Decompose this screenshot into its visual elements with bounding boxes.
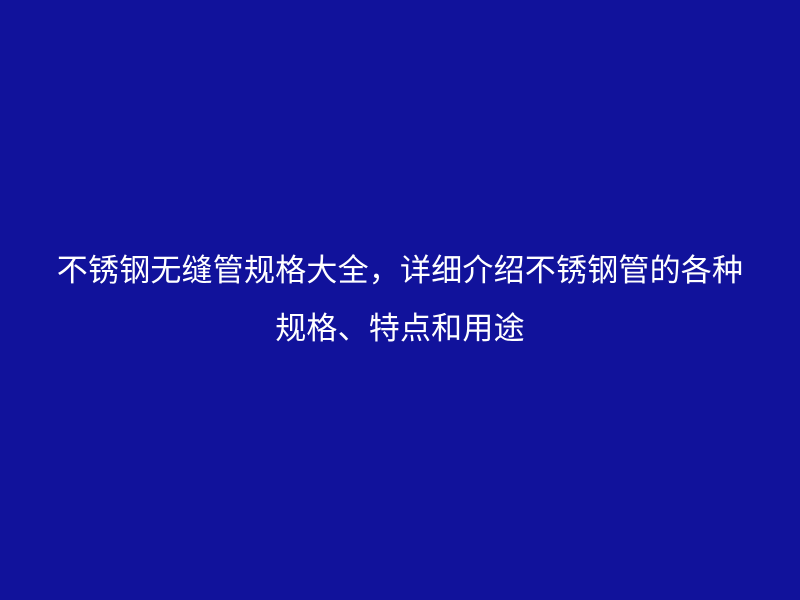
title-card: 不锈钢无缝管规格大全，详细介绍不锈钢管的各种规格、特点和用途 <box>0 0 800 600</box>
headline-block: 不锈钢无缝管规格大全，详细介绍不锈钢管的各种规格、特点和用途 <box>50 242 750 358</box>
page-title: 不锈钢无缝管规格大全，详细介绍不锈钢管的各种规格、特点和用途 <box>50 242 750 358</box>
